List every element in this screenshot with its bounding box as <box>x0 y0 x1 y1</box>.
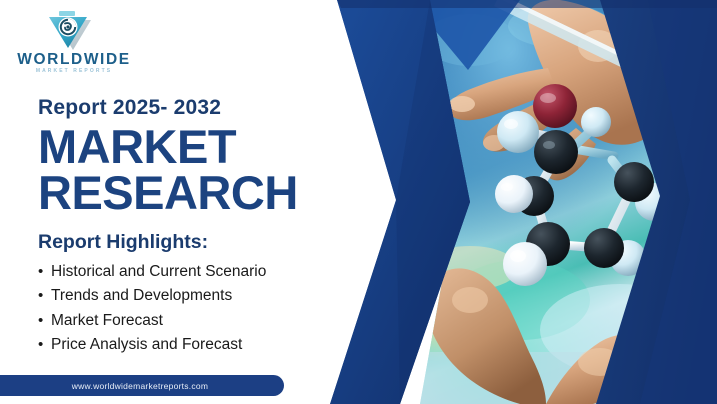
brand-logo[interactable]: WORLDWIDE MARKET REPORTS <box>14 6 134 80</box>
molecule-model-photo <box>396 0 717 404</box>
headline-block: Report 2025- 2032 MARKET RESEARCH Report… <box>38 96 358 358</box>
molecule-model <box>495 84 673 286</box>
list-item: Market Forecast <box>38 309 358 333</box>
dark-top-strip <box>337 0 717 8</box>
report-highlights-heading: Report Highlights: <box>38 232 358 253</box>
logo-wordmark: WORLDWIDE <box>14 52 134 68</box>
report-period-kicker: Report 2025- 2032 <box>38 96 358 120</box>
upper-hand <box>448 0 667 180</box>
website-url-bar[interactable]: www.worldwidemarketreports.com <box>0 375 284 396</box>
list-item: Price Analysis and Forecast <box>38 333 358 357</box>
list-item: Trends and Developments <box>38 284 358 308</box>
shield-globe-icon <box>44 8 92 52</box>
page-title: MARKET RESEARCH <box>38 124 358 216</box>
lower-hand <box>426 268 643 404</box>
report-highlights-list: Historical and Current Scenario Trends a… <box>38 260 358 358</box>
market-research-banner: WORLDWIDE MARKET REPORTS Report 2025- 20… <box>0 0 717 404</box>
list-item: Historical and Current Scenario <box>38 260 358 284</box>
website-url-text: www.worldwidemarketreports.com <box>54 381 208 391</box>
navy-band-right <box>596 0 717 404</box>
blue-sliver-top <box>418 0 520 70</box>
logo-subtitle: MARKET REPORTS <box>14 69 134 74</box>
